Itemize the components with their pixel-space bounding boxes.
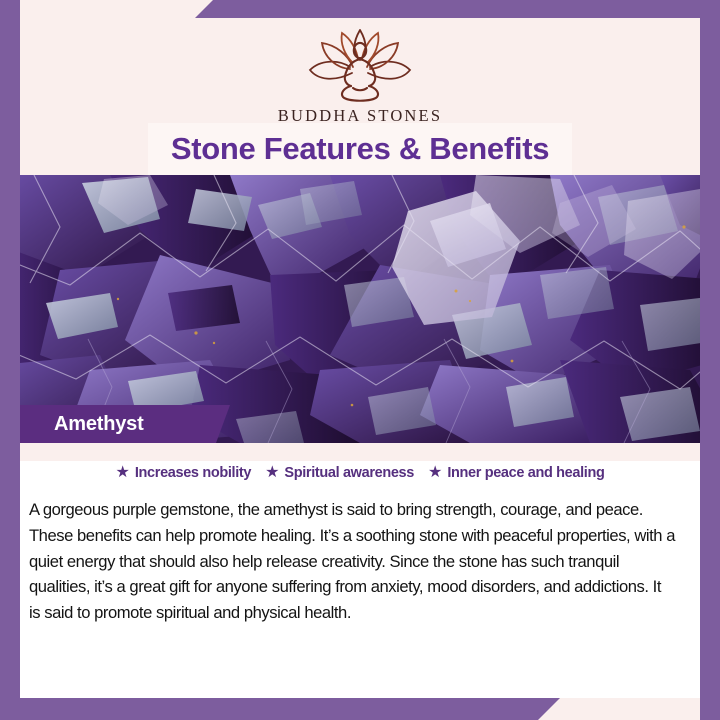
star-icon: ★	[428, 465, 442, 481]
stone-description: A gorgeous purple gemstone, the amethyst…	[29, 497, 676, 626]
title-banner: Stone Features & Benefits	[148, 123, 572, 175]
brand-block: BUDDHA STONES	[20, 26, 700, 126]
benefit-label: Inner peace and healing	[447, 465, 604, 481]
frame-right-border	[700, 0, 720, 720]
hero-image	[0, 175, 720, 443]
frame-left-border	[0, 0, 20, 720]
benefit-item-1: ★ Spiritual awareness	[265, 465, 414, 481]
benefit-label: Increases nobility	[135, 465, 251, 481]
star-icon: ★	[116, 465, 130, 481]
benefit-label: Spiritual awareness	[284, 465, 414, 481]
page-title: Stone Features & Benefits	[171, 131, 549, 167]
star-icon: ★	[265, 465, 279, 481]
frame-bottom-accent	[0, 698, 560, 720]
benefit-item-0: ★ Increases nobility	[116, 465, 252, 481]
stone-name-badge: Amethyst	[20, 405, 230, 443]
benefit-item-2: ★ Inner peace and healing	[428, 465, 604, 481]
benefits-list: ★ Increases nobility ★ Spiritual awarene…	[20, 465, 700, 481]
content-section: ★ Increases nobility ★ Spiritual awarene…	[20, 443, 700, 698]
stone-name: Amethyst	[54, 413, 144, 436]
lotus-meditation-icon	[300, 26, 420, 104]
poster-root: BUDDHA STONES Stone Features & Benefits	[0, 0, 720, 720]
content-top-fade	[20, 443, 700, 461]
frame-top-accent	[195, 0, 720, 18]
